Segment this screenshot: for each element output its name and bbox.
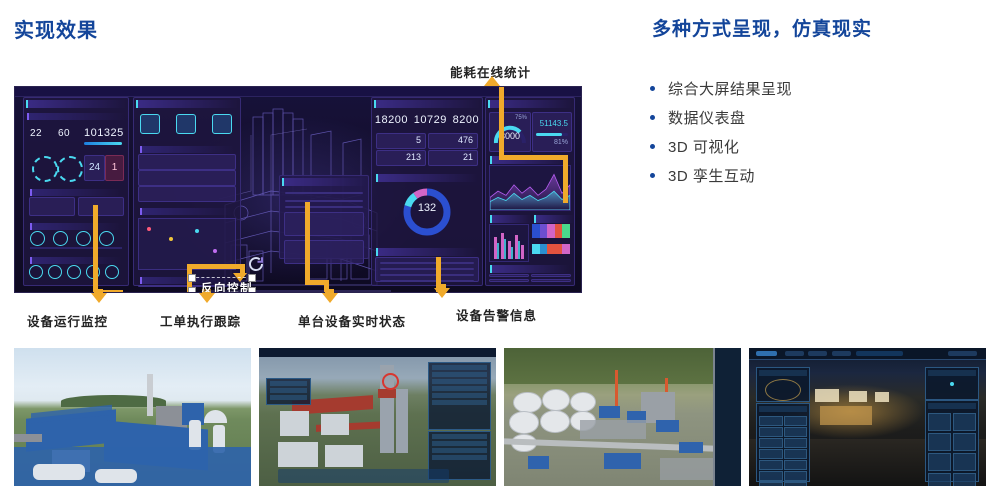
storage-tank — [542, 389, 570, 410]
metric-pressure: 101325 — [84, 127, 124, 139]
device-status-cell — [489, 274, 529, 277]
arrow-shaft — [325, 289, 334, 295]
map-marker — [195, 229, 199, 233]
arrow-up-icon — [484, 76, 500, 86]
callout-label-3: 单台设备实时状态 — [298, 311, 406, 330]
arrow-shaft — [437, 284, 446, 290]
metric-temperature: 22 — [30, 128, 42, 139]
scene-info-popup[interactable] — [266, 378, 311, 405]
section-header — [376, 174, 478, 182]
selection-handle[interactable] — [248, 287, 256, 293]
popup-header — [282, 178, 366, 186]
arrow-shaft — [94, 289, 103, 295]
building — [278, 442, 318, 467]
progress-track — [536, 133, 568, 136]
toolbar-actions[interactable] — [948, 351, 976, 356]
section-header — [490, 215, 532, 223]
panel-overall-stats: 18200 10729 8200 5 476 213 21 — [371, 97, 483, 286]
panel-device-overview: 22 60 101325 24 1 — [23, 97, 129, 286]
bullet-dot-icon — [650, 115, 655, 120]
warehouse — [679, 442, 703, 453]
progress-value: 51143.5 — [540, 119, 568, 128]
device-icon — [67, 265, 81, 279]
list-item-label: 数据仪表盘 — [668, 107, 746, 128]
heatmap-row-2 — [532, 244, 570, 254]
map-marker — [147, 227, 151, 231]
process-unit — [599, 406, 620, 418]
list-item-label: 3D 孪生互动 — [668, 165, 755, 186]
tower — [396, 389, 408, 452]
selection-handle[interactable] — [188, 274, 196, 282]
toolbar-tab[interactable] — [808, 351, 827, 356]
kpi-card: 213 — [376, 150, 426, 166]
floor-plan-map[interactable] — [138, 218, 236, 270]
section-header — [376, 248, 478, 256]
device-status-cell — [489, 279, 529, 282]
side-panel-status[interactable] — [428, 362, 492, 430]
pressure-underline — [84, 142, 122, 145]
gauge-percent: 75% — [515, 115, 527, 121]
callout-label-4: 设备告警信息 — [456, 305, 537, 324]
tower-band — [378, 389, 397, 397]
tank — [33, 464, 85, 481]
connector-line — [93, 205, 98, 293]
slide-root: 实现效果 多种方式呈现，仿真现实 综合大屏结果呈现 数据仪表盘 3D 可视化 3… — [0, 0, 1000, 498]
list-item-label: 综合大屏结果呈现 — [668, 78, 792, 99]
process-unit — [641, 392, 674, 422]
popup-table-1 — [284, 212, 364, 236]
selection-handle[interactable] — [248, 274, 256, 282]
building — [325, 445, 363, 467]
selection-dashed-line — [191, 277, 251, 278]
tank — [189, 420, 201, 450]
counter-card-1: 1 — [105, 155, 124, 181]
bottom-toolbar[interactable] — [278, 469, 449, 483]
panel-header — [26, 100, 126, 108]
radar-blip-icon — [950, 382, 954, 386]
panel-header — [374, 100, 480, 108]
icon-row — [29, 265, 119, 279]
device-info-popup[interactable] — [279, 175, 369, 259]
list-item: 数据仪表盘 — [650, 103, 990, 132]
status-icon — [176, 114, 196, 134]
alarm-table[interactable] — [375, 257, 479, 282]
road — [14, 434, 42, 442]
side-ui-edge — [713, 348, 741, 486]
selection-handle[interactable] — [188, 287, 196, 293]
panel-radar[interactable] — [925, 367, 979, 399]
storage-tank — [570, 392, 596, 412]
connector-line — [118, 290, 123, 293]
device-icon — [48, 265, 62, 279]
page-title-right: 多种方式呈现，仿真现实 — [652, 14, 872, 41]
hotspot-marker-icon[interactable] — [382, 373, 399, 390]
process-unit — [656, 420, 680, 432]
tank — [95, 469, 138, 483]
connector-line — [499, 155, 568, 160]
device-status-cell — [531, 279, 571, 282]
divider — [30, 247, 122, 249]
ring-chart-icon — [765, 379, 801, 401]
status-icon — [140, 114, 160, 134]
connector-line — [187, 264, 245, 269]
gauge-card: 3000 75% — [489, 112, 531, 152]
work-order-row[interactable] — [138, 154, 236, 170]
window — [815, 389, 839, 401]
list-item-label: 3D 可视化 — [668, 136, 739, 157]
device-status-cell — [531, 274, 571, 277]
refresh-icon[interactable] — [247, 255, 265, 273]
popup-field — [285, 206, 363, 208]
pallet-stack — [820, 406, 872, 425]
ring-gauge-1 — [32, 156, 58, 182]
section-header — [534, 215, 574, 223]
device-icon — [105, 265, 119, 279]
bullet-dot-icon — [650, 173, 655, 178]
device-icon — [53, 231, 68, 246]
process-unit — [660, 458, 712, 480]
section-header — [27, 113, 125, 120]
storage-tank — [540, 410, 570, 433]
feature-list: 综合大屏结果呈现 数据仪表盘 3D 可视化 3D 孪生互动 — [650, 74, 990, 190]
viewer-title — [856, 351, 903, 356]
section-header — [30, 223, 122, 230]
window — [875, 392, 889, 402]
toolbar-tab[interactable] — [785, 351, 804, 356]
progress-fill — [536, 133, 562, 136]
thumbnail-3d-cement-plant[interactable] — [259, 348, 496, 486]
panel-header — [136, 100, 238, 108]
kpi-card: 21 — [428, 150, 478, 166]
panel-data-table[interactable] — [756, 403, 810, 482]
reverse-control-label: 反向控制 — [201, 280, 253, 293]
pipe-rack — [580, 420, 646, 439]
page-title-left: 实现效果 — [14, 14, 98, 43]
device-icon — [30, 231, 45, 246]
device-icon — [76, 231, 91, 246]
kpi-row: 18200 10729 8200 — [372, 114, 482, 126]
device-icon — [29, 265, 43, 279]
popup-field — [285, 192, 363, 194]
device-icon — [99, 231, 114, 246]
kpi-value: 10729 — [414, 114, 447, 126]
section-header — [30, 189, 122, 196]
panel-work-orders — [133, 97, 241, 286]
bullet-dot-icon — [650, 144, 655, 149]
panel-camera-grid[interactable] — [925, 400, 979, 482]
device-status-grid — [489, 274, 571, 282]
stat-chip — [29, 197, 75, 216]
warehouse — [604, 453, 642, 470]
thumbnail-refinery-aerial[interactable] — [504, 348, 741, 486]
kpi-value: 18200 — [375, 114, 408, 126]
connector-line — [305, 202, 310, 285]
callout-label-1: 设备运行监控 — [27, 311, 108, 330]
work-order-row[interactable] — [138, 186, 236, 202]
toolbar-tab[interactable] — [832, 351, 851, 356]
icon-row — [30, 231, 114, 246]
dashboard-screenshot: 22 60 101325 24 1 — [14, 86, 582, 293]
connector-line — [563, 155, 568, 203]
donut-center-value: 132 — [399, 202, 455, 214]
callout-label-2: 工单执行跟踪 — [160, 311, 241, 330]
popup-field — [285, 200, 363, 202]
map-marker — [169, 237, 173, 241]
section-header — [490, 265, 570, 273]
section-header — [30, 257, 122, 264]
stat-chip — [78, 197, 124, 216]
list-item: 3D 可视化 — [650, 132, 990, 161]
building — [321, 414, 349, 435]
toolbar-tab[interactable] — [756, 351, 777, 356]
workorder-status-icons — [140, 114, 232, 134]
thumbnail-strip — [14, 348, 986, 486]
kpi-card: 476 — [428, 133, 478, 149]
list-item: 3D 孪生互动 — [650, 161, 990, 190]
window — [849, 391, 868, 402]
thumbnail-digital-twin-warehouse[interactable] — [749, 348, 986, 486]
section-header — [140, 208, 234, 215]
area-chart — [489, 165, 571, 211]
work-order-row[interactable] — [138, 170, 236, 186]
kpi-card: 5 — [376, 133, 426, 149]
section-header — [140, 146, 234, 153]
thumbnail-3d-plant-aerial[interactable] — [14, 348, 251, 486]
kpi-value: 8200 — [453, 114, 479, 126]
building — [280, 411, 308, 436]
progress-card: 51143.5 81% — [532, 112, 572, 152]
forest — [504, 348, 741, 384]
progress-percent: 81% — [554, 139, 568, 146]
status-icon — [212, 114, 232, 134]
storage-tank — [513, 392, 541, 413]
map-marker — [213, 249, 217, 253]
popup-table-2 — [284, 240, 364, 264]
warehouse — [528, 456, 549, 470]
viewer-topbar — [259, 348, 496, 357]
panel-overview[interactable] — [756, 367, 810, 402]
chimney — [147, 374, 153, 415]
gauge-value: 3000 — [490, 131, 530, 141]
heatmap-row-1 — [532, 224, 570, 238]
bar-chart — [489, 224, 529, 262]
dashboard-topbar — [15, 87, 581, 97]
list-item: 综合大屏结果呈现 — [650, 74, 990, 103]
ring-gauge-2 — [57, 156, 83, 182]
counter-card-24: 24 — [84, 155, 105, 181]
connector-line — [499, 87, 504, 159]
metric-humidity: 60 — [58, 128, 70, 139]
bullet-dot-icon — [650, 86, 655, 91]
